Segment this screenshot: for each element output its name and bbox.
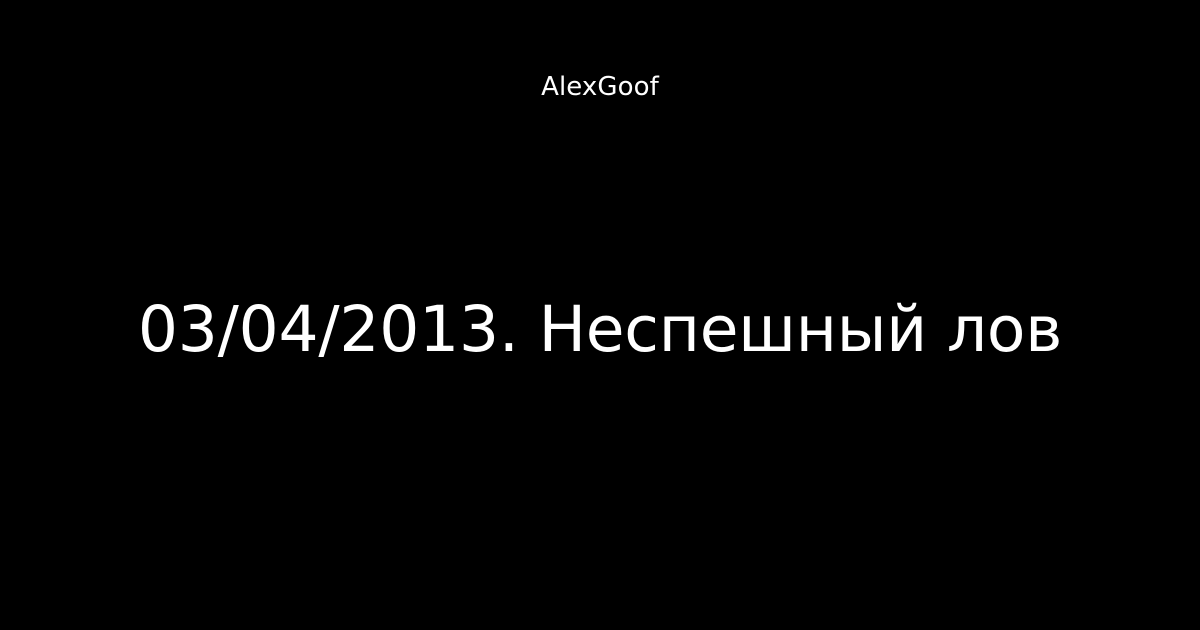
byline-row: AlexGoof: [0, 70, 1200, 104]
headline-row: 03/04/2013. Неспешный лов: [0, 246, 1200, 414]
social-preview-card: AlexGoof 03/04/2013. Неспешный лов: [0, 0, 1200, 630]
page-title: 03/04/2013. Неспешный лов: [138, 288, 1062, 372]
site-byline: AlexGoof: [541, 70, 659, 104]
